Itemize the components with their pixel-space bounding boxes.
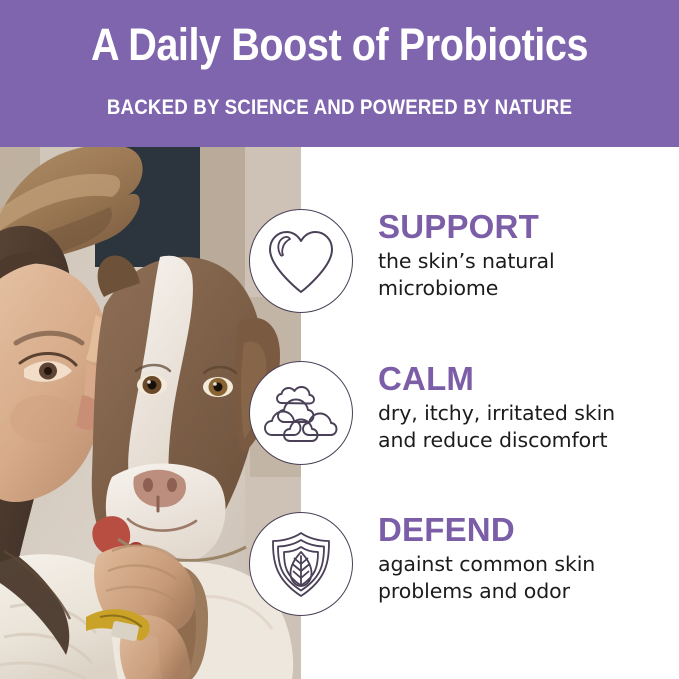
benefit-description-defend: against common skin problems and odor [378, 551, 673, 605]
shield-leaf-icon [249, 512, 353, 616]
header-banner: A Daily Boost of Probiotics BACKED BY SC… [0, 0, 679, 147]
benefit-description-support: the skin’s natural microbiome [378, 248, 673, 302]
clouds-icon [249, 361, 353, 465]
benefit-text-calm: CALM dry, itchy, irritated skin and redu… [378, 361, 673, 454]
probiotics-infographic: A Daily Boost of Probiotics BACKED BY SC… [0, 0, 679, 679]
benefit-description-line: dry, itchy, irritated skin [378, 400, 673, 427]
benefit-description-line: the skin’s natural [378, 248, 673, 275]
benefit-description-line: problems and odor [378, 578, 673, 605]
benefit-description-line: against common skin [378, 551, 673, 578]
benefit-item-calm: CALM dry, itchy, irritated skin and redu… [0, 361, 679, 471]
benefit-item-defend: DEFEND against common skin problems and … [0, 512, 679, 622]
benefit-description-line: microbiome [378, 275, 673, 302]
benefit-description-calm: dry, itchy, irritated skin and reduce di… [378, 400, 673, 454]
page-title: A Daily Boost of Probiotics [41, 19, 639, 71]
benefit-text-defend: DEFEND against common skin problems and … [378, 512, 673, 605]
benefit-title-support: SUPPORT [378, 209, 673, 245]
page-subtitle: BACKED BY SCIENCE AND POWERED BY NATURE [37, 95, 641, 120]
benefit-title-calm: CALM [378, 361, 673, 397]
benefit-title-defend: DEFEND [378, 512, 673, 548]
benefit-item-support: SUPPORT the skin’s natural microbiome [0, 209, 679, 319]
heart-icon [249, 209, 353, 313]
benefit-text-support: SUPPORT the skin’s natural microbiome [378, 209, 673, 302]
benefit-description-line: and reduce discomfort [378, 427, 673, 454]
